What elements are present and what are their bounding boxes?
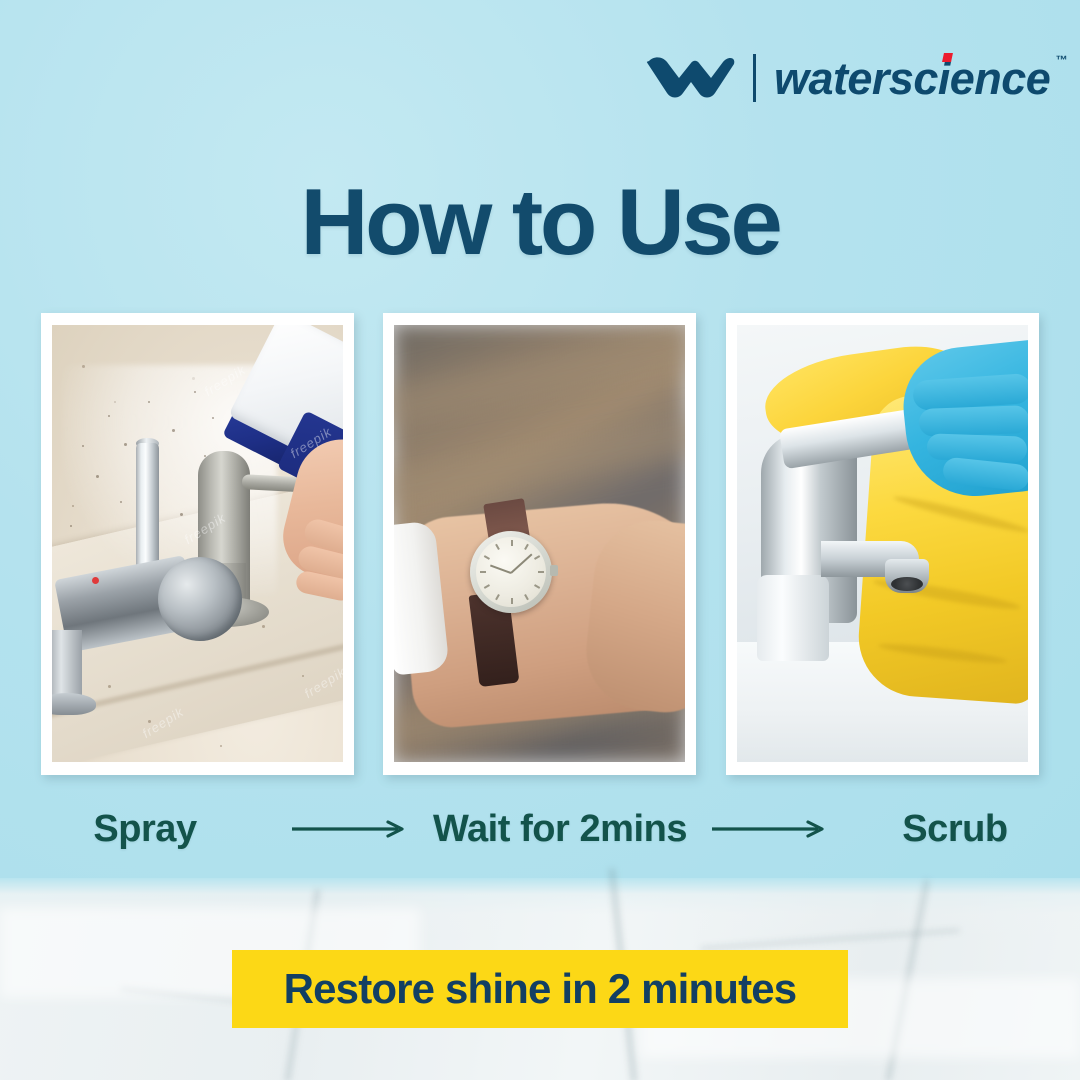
step-card-scrub [726, 313, 1039, 775]
step-image-wait [394, 325, 685, 762]
tagline-text: Restore shine in 2 minutes [284, 965, 797, 1013]
logo-wordmark: waterscience ™ [774, 56, 1050, 101]
logo-divider [753, 54, 756, 102]
poster-canvas: waterscience ™ How to Use [0, 0, 1080, 1080]
logo-i-dot-icon [942, 53, 953, 62]
step-image-scrub [737, 325, 1028, 762]
step-label-scrub: Scrub [830, 808, 1080, 851]
tagline-banner: Restore shine in 2 minutes [232, 950, 848, 1028]
arrow-right-icon [710, 817, 830, 841]
step-label-row: Spray Wait for 2mins Scrub [0, 798, 1080, 860]
waterscience-w-icon [645, 55, 737, 101]
logo-trademark: ™ [1056, 54, 1067, 66]
step-card-spray: freepik freepik freepik freepik freepik [41, 313, 354, 775]
logo-wordmark-text: waterscience [774, 53, 1050, 104]
step-image-spray: freepik freepik freepik freepik freepik [52, 325, 343, 762]
arrow-right-icon [290, 817, 410, 841]
step-card-wait [383, 313, 696, 775]
step-label-spray: Spray [0, 808, 290, 851]
brand-logo: waterscience ™ [645, 48, 1050, 108]
step-image-row: freepik freepik freepik freepik freepik [0, 313, 1080, 783]
step-label-wait: Wait for 2mins [410, 808, 710, 851]
page-title: How to Use [0, 173, 1080, 272]
